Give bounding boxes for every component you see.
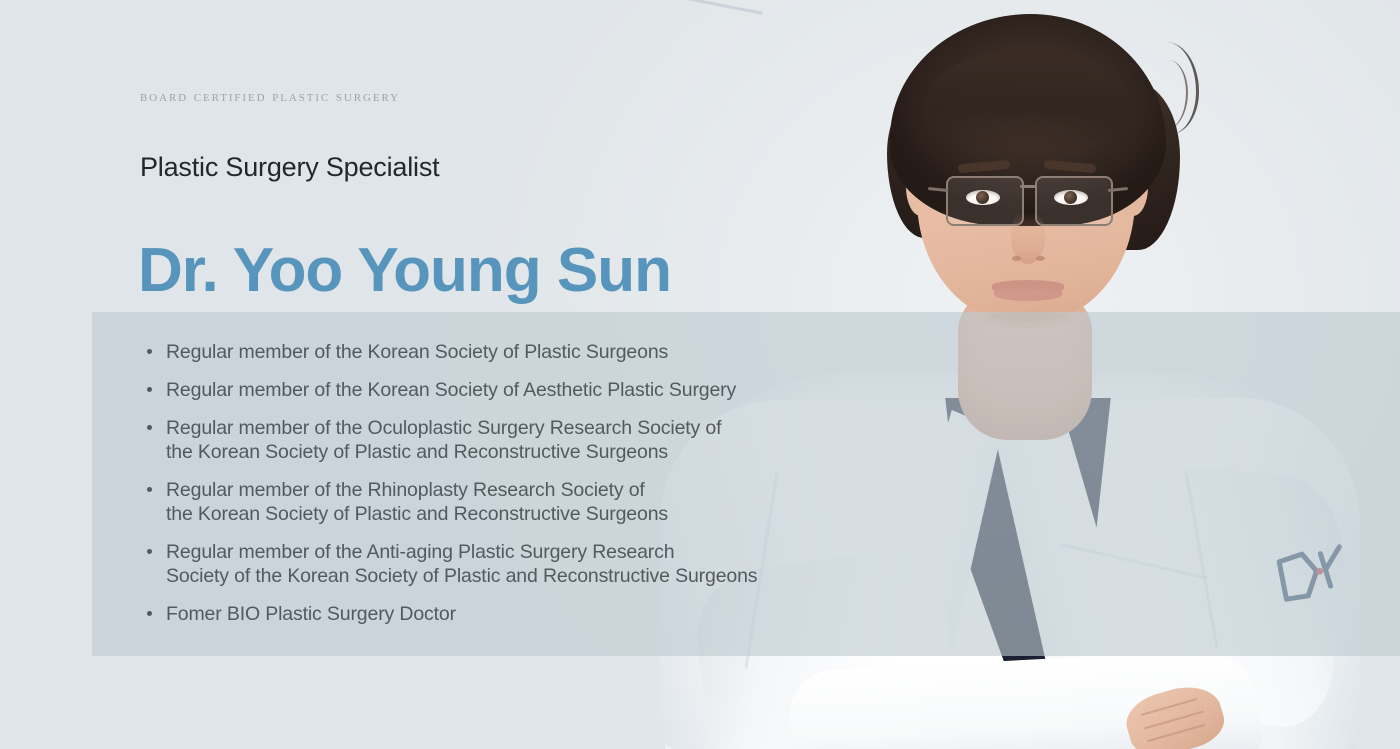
credential-line-1: Fomer BIO Plastic Surgery Doctor <box>166 603 456 625</box>
doctor-name-heading: Dr. Yoo Young Sun <box>138 238 671 305</box>
lower-lip-shape <box>994 288 1062 301</box>
credential-line-2: Society of the Korean Society of Plastic… <box>166 564 905 588</box>
bullet-icon <box>147 549 152 554</box>
credential-line-1: Regular member of the Anti-aging Plastic… <box>166 541 674 563</box>
credential-line-2: the Korean Society of Plastic and Recons… <box>166 502 905 526</box>
credential-item: Regular member of the Rhinoplasty Resear… <box>145 478 905 526</box>
credential-line-1: Regular member of the Oculoplastic Surge… <box>166 417 721 439</box>
credential-item: Regular member of the Anti-aging Plastic… <box>145 540 905 588</box>
credential-line-1: Regular member of the Korean Society of … <box>166 341 668 363</box>
right-nostril-shape <box>1036 256 1045 261</box>
credential-item: Fomer BIO Plastic Surgery Doctor <box>145 602 905 626</box>
credential-item: Regular member of the Korean Society of … <box>145 378 905 402</box>
credential-line-1: Regular member of the Korean Society of … <box>166 379 736 401</box>
eyebrow-label: Board Certified Plastic Surgery <box>140 88 400 106</box>
credential-item: Regular member of the Oculoplastic Surge… <box>145 416 905 464</box>
glasses-right-lens <box>1035 176 1113 226</box>
glasses-left-lens <box>946 176 1024 226</box>
credential-line-1: Regular member of the Rhinoplasty Resear… <box>166 479 645 501</box>
bullet-icon <box>147 611 152 616</box>
coat-pocket-line <box>641 0 763 15</box>
credential-line-2: the Korean Society of Plastic and Recons… <box>166 440 905 464</box>
bullet-icon <box>147 487 152 492</box>
bullet-icon <box>147 387 152 392</box>
doctor-profile-banner: Board Certified Plastic Surgery Plastic … <box>0 0 1400 749</box>
specialty-subtitle: Plastic Surgery Specialist <box>140 152 439 183</box>
glasses-bridge <box>1020 185 1036 188</box>
credential-item: Regular member of the Korean Society of … <box>145 340 905 364</box>
hair-fringe-shape <box>926 52 1130 148</box>
bullet-icon <box>147 349 152 354</box>
credentials-list: Regular member of the Korean Society of … <box>145 340 905 640</box>
left-nostril-shape <box>1012 256 1021 261</box>
bullet-icon <box>147 425 152 430</box>
